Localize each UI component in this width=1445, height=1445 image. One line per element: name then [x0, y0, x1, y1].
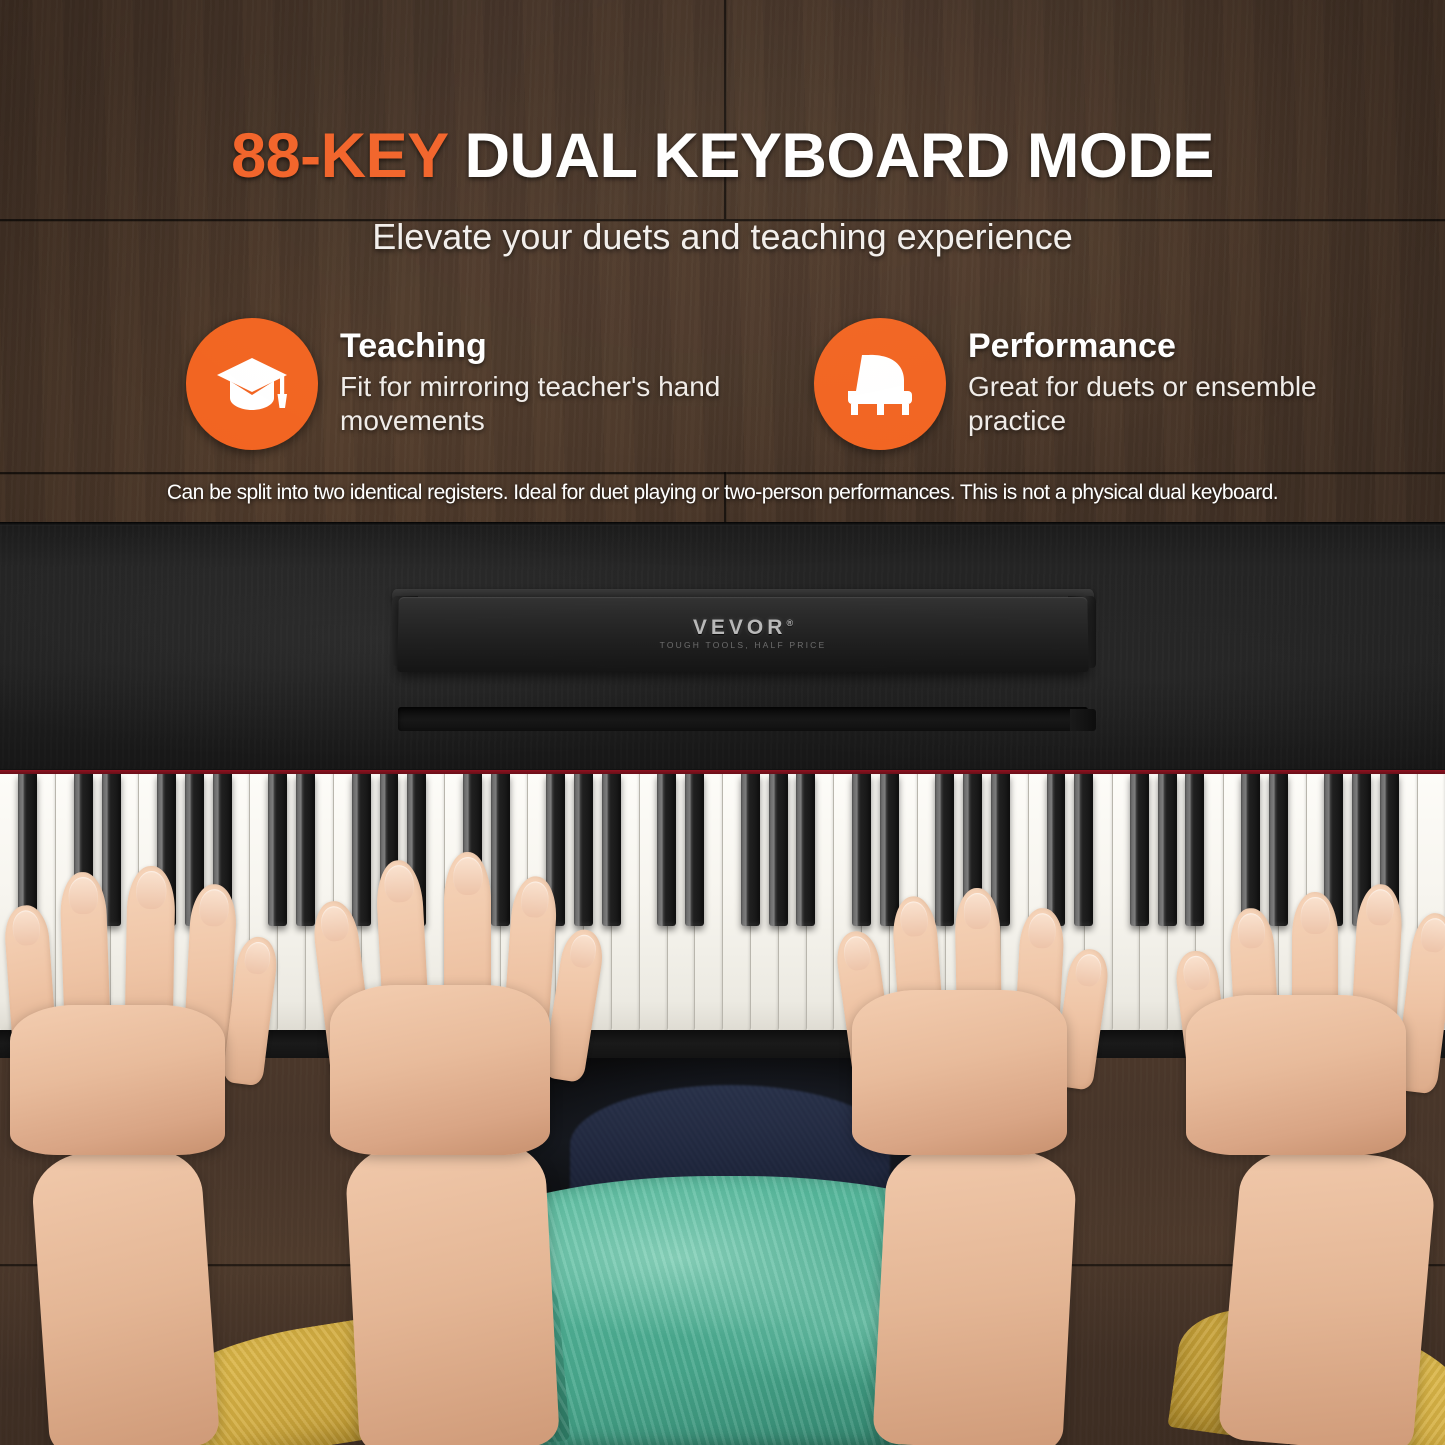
- page-subtitle: Elevate your duets and teaching experien…: [0, 216, 1445, 258]
- piano-black-key[interactable]: [352, 774, 371, 926]
- piano-black-key[interactable]: [657, 774, 676, 926]
- piano-black-key[interactable]: [1324, 774, 1343, 926]
- piano-black-key[interactable]: [157, 774, 176, 926]
- piano-keyboard: [0, 774, 1445, 1032]
- feature-text-teaching: Teaching Fit for mirroring teacher's han…: [340, 318, 760, 438]
- music-rest-panel: VEVOR® TOUGH TOOLS, HALF PRICE: [397, 597, 1089, 672]
- feature-title: Teaching: [340, 328, 760, 365]
- piano-black-key[interactable]: [1380, 774, 1399, 926]
- piano-black-key[interactable]: [546, 774, 565, 926]
- piano-black-key[interactable]: [491, 774, 510, 926]
- piano-black-key[interactable]: [1352, 774, 1371, 926]
- brand-logo-text: VEVOR: [693, 616, 787, 639]
- piano-black-key[interactable]: [796, 774, 815, 926]
- graduation-cap-icon: [186, 318, 318, 450]
- piano-black-key[interactable]: [463, 774, 482, 926]
- piano-black-key[interactable]: [880, 774, 899, 926]
- piano-black-key[interactable]: [268, 774, 287, 926]
- piano-black-key[interactable]: [102, 774, 121, 926]
- piano-black-key[interactable]: [1185, 774, 1204, 926]
- piano-black-key[interactable]: [1269, 774, 1288, 926]
- feature-item-performance: Performance Great for duets or ensemble …: [814, 318, 1388, 450]
- brand-logo-tagline: TOUGH TOOLS, HALF PRICE: [398, 641, 1089, 650]
- brand-logo: VEVOR® TOUGH TOOLS, HALF PRICE: [398, 617, 1089, 649]
- plank-seam-horizontal: [0, 472, 1445, 475]
- piano-black-key[interactable]: [1241, 774, 1260, 926]
- product-infographic: 88-KEY DUAL KEYBOARD MODE Elevate your d…: [0, 0, 1445, 1445]
- feature-item-teaching: Teaching Fit for mirroring teacher's han…: [186, 318, 760, 450]
- piano-black-key[interactable]: [574, 774, 593, 926]
- piano-black-key[interactable]: [852, 774, 871, 926]
- piano-body-slot: [398, 707, 1088, 731]
- piano-black-key[interactable]: [963, 774, 982, 926]
- trademark-symbol: ®: [786, 618, 793, 628]
- grand-piano-icon: [814, 318, 946, 450]
- disclaimer-text: Can be split into two identical register…: [0, 481, 1445, 505]
- piano-black-key[interactable]: [685, 774, 704, 926]
- piano-black-key[interactable]: [602, 774, 621, 926]
- feature-list: Teaching Fit for mirroring teacher's han…: [0, 318, 1445, 468]
- page-title: 88-KEY DUAL KEYBOARD MODE: [0, 124, 1445, 190]
- feature-text-performance: Performance Great for duets or ensemble …: [968, 318, 1388, 438]
- piano-black-key[interactable]: [296, 774, 315, 926]
- feature-description: Fit for mirroring teacher's hand movemen…: [340, 370, 760, 438]
- piano-black-key[interactable]: [185, 774, 204, 926]
- headline-highlight: 88-KEY: [231, 121, 447, 191]
- piano-black-key[interactable]: [935, 774, 954, 926]
- piano-black-key[interactable]: [1158, 774, 1177, 926]
- headline-rest: DUAL KEYBOARD MODE: [465, 121, 1214, 191]
- black-keys-group: [0, 774, 1445, 1032]
- piano-black-key[interactable]: [1130, 774, 1149, 926]
- piano-black-key[interactable]: [991, 774, 1010, 926]
- piano-black-key[interactable]: [213, 774, 232, 926]
- piano-black-key[interactable]: [769, 774, 788, 926]
- feature-description: Great for duets or ensemble practice: [968, 370, 1388, 438]
- piano-black-key[interactable]: [1047, 774, 1066, 926]
- piano-black-key[interactable]: [74, 774, 93, 926]
- piano-black-key[interactable]: [407, 774, 426, 926]
- piano-black-key[interactable]: [380, 774, 399, 926]
- piano-body-slot-right-cap: [1070, 709, 1096, 731]
- feature-title: Performance: [968, 328, 1388, 365]
- piano-body-top-edge: [0, 522, 1445, 526]
- piano-black-key[interactable]: [741, 774, 760, 926]
- piano-black-key[interactable]: [18, 774, 37, 926]
- brand-logo-word: VEVOR®: [398, 617, 1088, 638]
- piano-black-key[interactable]: [1074, 774, 1093, 926]
